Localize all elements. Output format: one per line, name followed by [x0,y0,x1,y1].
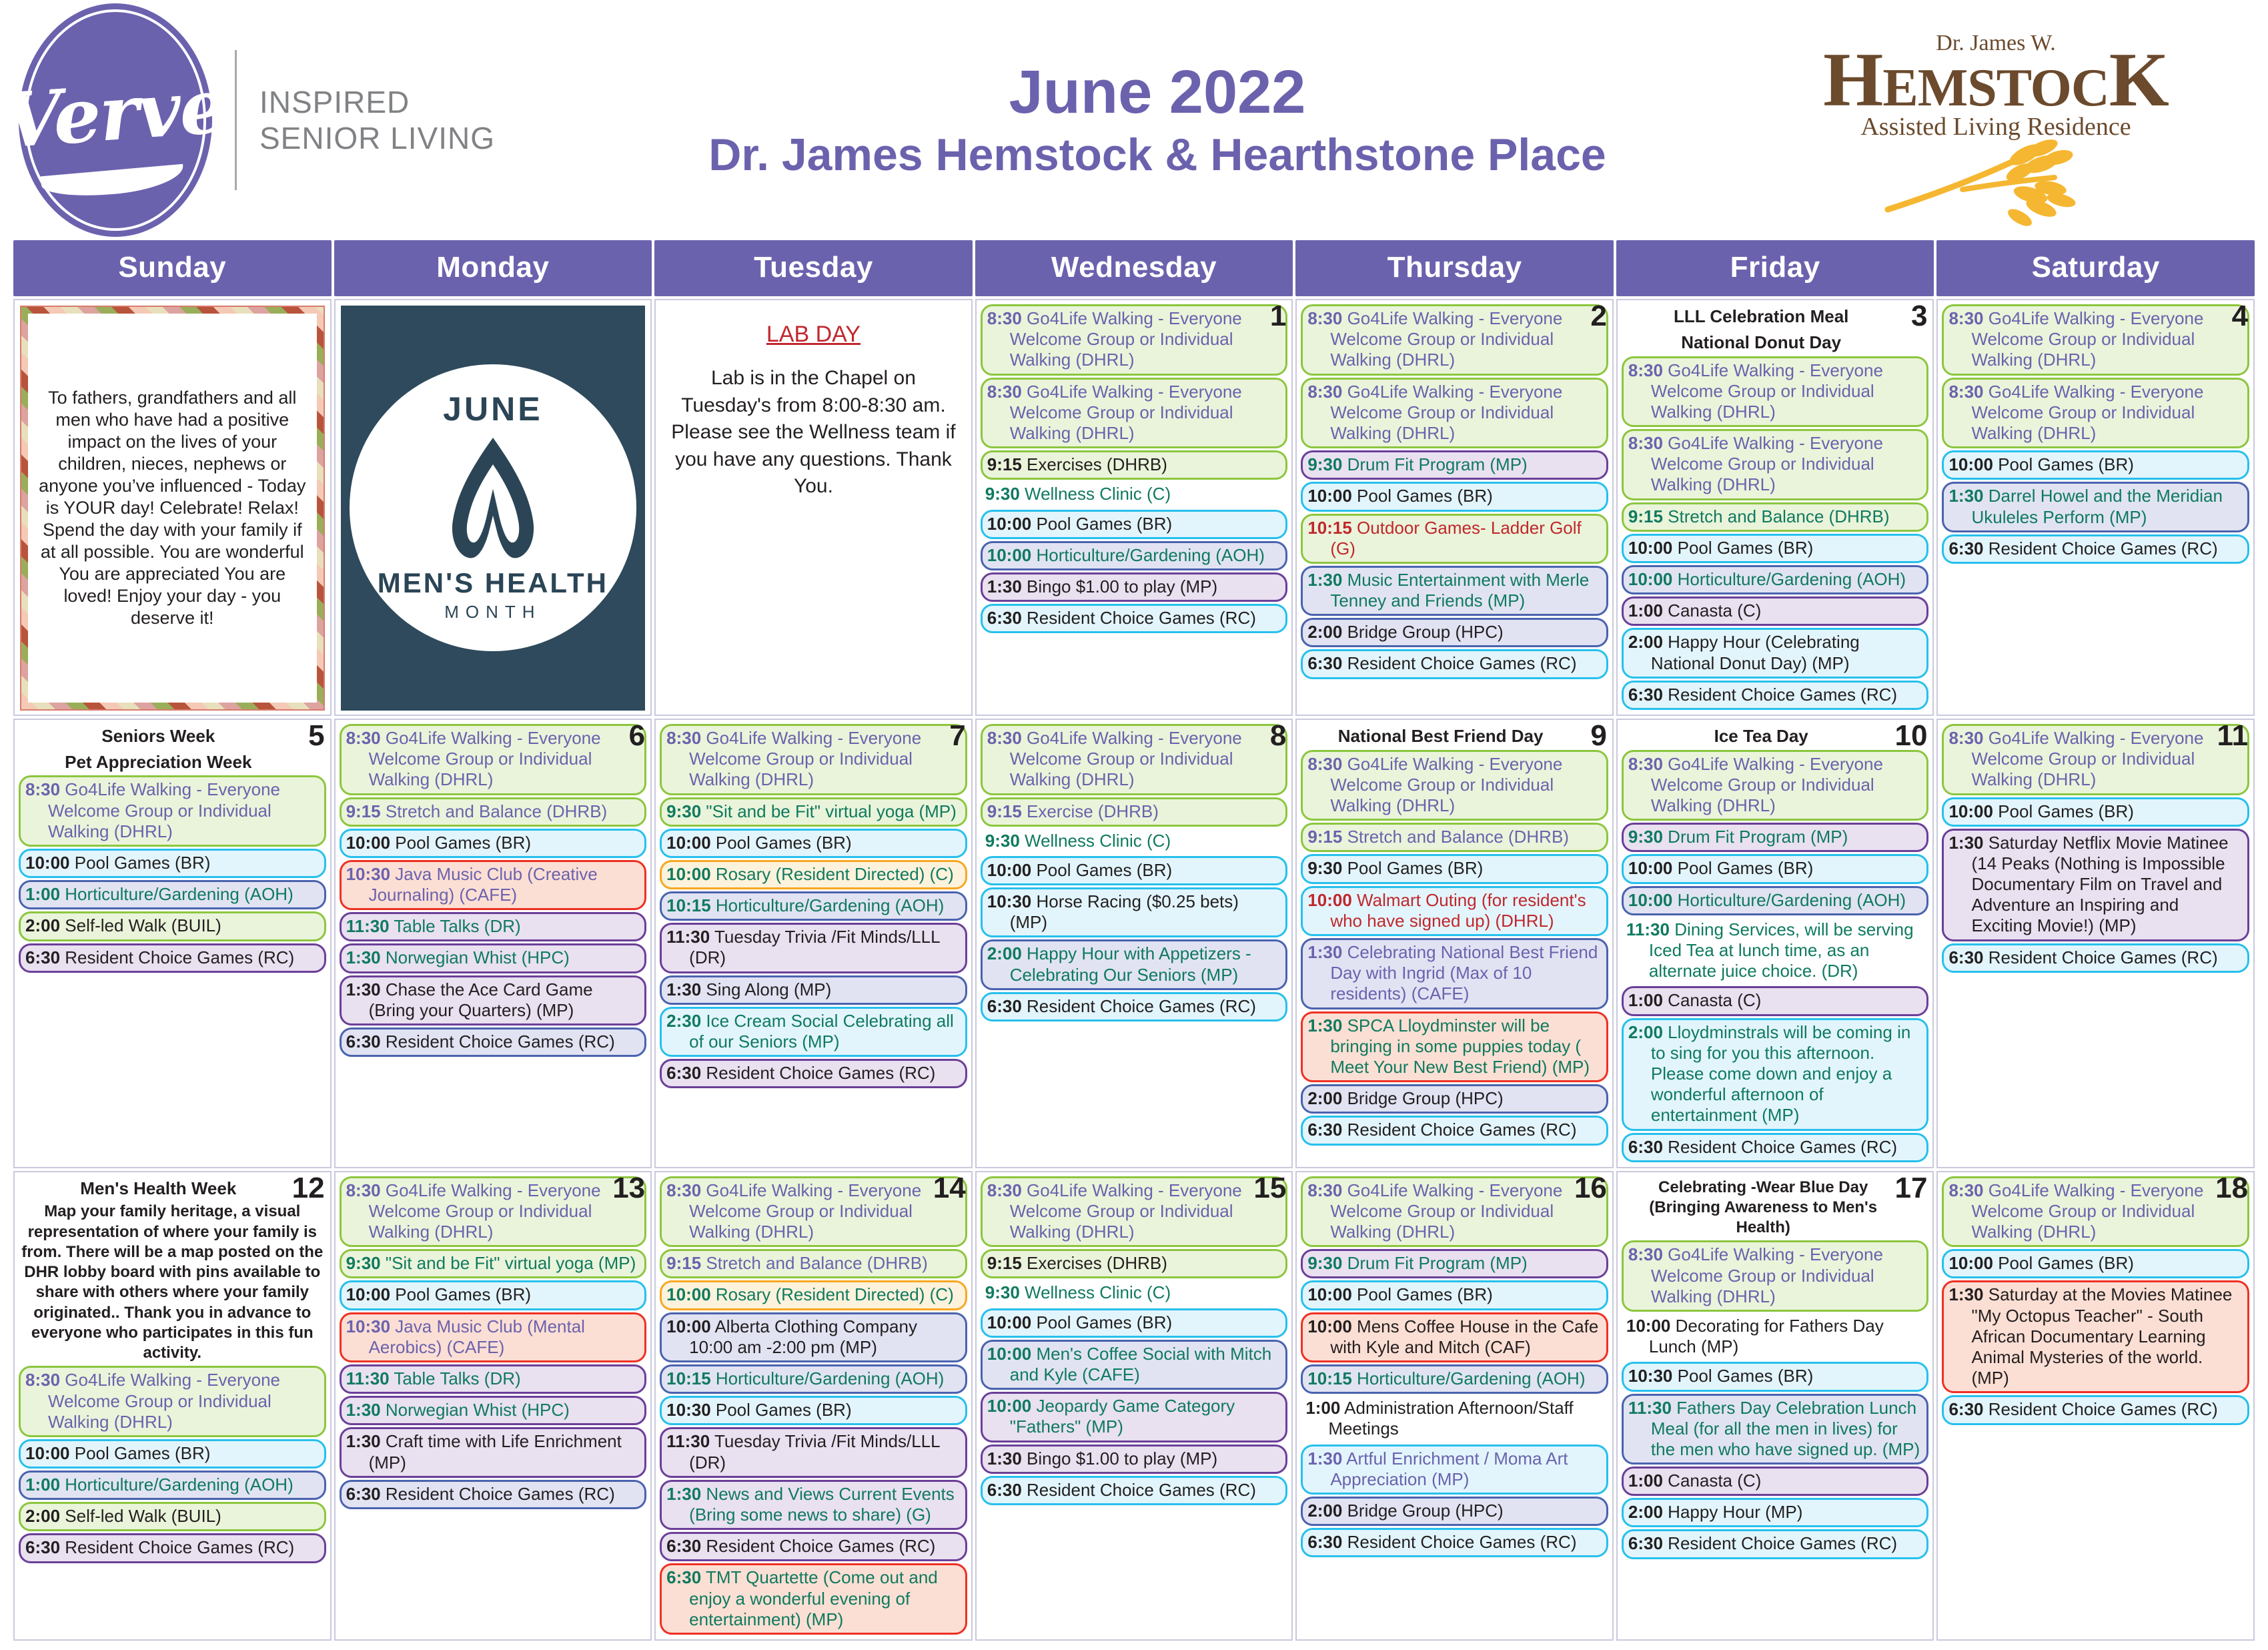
day-number: 14 [933,1174,966,1203]
event-label: Tuesday Trivia /Fit Minds/LLL (DR) [689,1431,939,1472]
day-cell-4[interactable]: 48:30 Go4Life Walking - Everyone Welcome… [1936,299,2255,716]
calendar-event[interactable]: 10:00 Horticulture/Gardening (AOH) [981,541,1288,570]
event-time: 8:30 [1307,754,1342,774]
wheat-icon [1882,131,2109,231]
calendar-event[interactable]: 10:15 Outdoor Games- Ladder Golf (G) [1301,514,1608,564]
event-label: Go4Life Walking - Everyone Welcome Group… [1010,308,1242,370]
calendar-event[interactable]: 8:30 Go4Life Walking - Everyone Welcome … [981,304,1288,376]
calendar-event[interactable]: 9:30 Wellness Clinic (C) [981,1280,1288,1306]
calendar-event[interactable]: 1:30 SPCA Lloydminster will be bringing … [1301,1011,1608,1083]
calendar-event[interactable]: 8:30 Go4Life Walking - Everyone Welcome … [1622,429,1929,500]
verve-wordmark: Verve [1,62,229,165]
day-cell-lab-day[interactable]: LAB DAYLab is in the Chapel on Tuesday's… [654,299,973,716]
event-time: 6:30 [987,996,1022,1016]
calendar-event[interactable]: 8:30 Go4Life Walking - Everyone Welcome … [981,724,1288,795]
calendar-event[interactable]: 6:30 Resident Choice Games (RC) [981,992,1288,1021]
event-label: Bingo $1.00 to play (MP) [1022,576,1217,596]
calendar-event[interactable]: 1:00 Canasta (C) [1622,986,1929,1015]
event-time: 10:00 [987,1396,1032,1416]
calendar-event[interactable]: 10:00 Pool Games (BR) [981,856,1288,885]
calendar-event[interactable]: 10:30 Pool Games (BR) [660,1396,967,1425]
event-label: Pool Games (BR) [1031,860,1172,880]
mens-health-month-poster: JUNEMEN'S HEALTHMONTH [341,306,646,711]
event-time: 10:00 [25,853,70,873]
day-cell-3[interactable]: 3LLL Celebration MealNational Donut Day8… [1616,299,1934,716]
logo-divider [235,50,237,190]
event-time: 1:30 [666,1484,701,1504]
calendar-event[interactable]: 6:30 Resident Choice Games (RC) [1301,649,1608,679]
calendar-event[interactable]: 6:30 Resident Choice Games (RC) [1942,943,2249,973]
calendar-event[interactable]: 11:30 Dining Services, will be serving I… [1622,917,1929,985]
event-time: 8:30 [25,779,60,799]
calendar-event[interactable]: 10:15 Horticulture/Gardening (AOH) [660,1364,967,1394]
event-time: 10:00 [346,833,391,853]
calendar-event[interactable]: 9:30 "Sit and be Fit" virtual yoga (MP) [660,797,967,827]
verve-oval-mark: Verve [19,3,212,237]
calendar-event[interactable]: 10:15 Horticulture/Gardening (AOH) [660,891,967,921]
event-label: Resident Choice Games (RC) [60,947,294,967]
calendar-event[interactable]: 10:00 Mens Coffee House in the Cafe with… [1301,1312,1608,1362]
calendar-event[interactable]: 10:00 Decorating for Fathers Day Lunch (… [1622,1314,1929,1360]
calendar-event[interactable]: 8:30 Go4Life Walking - Everyone Welcome … [1622,356,1929,428]
day-number: 11 [2217,721,2249,751]
calendar-event[interactable]: 10:00 Men's Coffee Social with Mitch and… [981,1340,1288,1390]
event-time: 10:00 [666,1316,711,1336]
calendar-event[interactable]: 2:00 Bridge Group (HPC) [1301,1084,1608,1114]
calendar-event[interactable]: 9:15 Stretch and Balance (DHRB) [340,797,647,827]
event-label: Pool Games (BR) [1993,454,2134,474]
calendar-event[interactable]: 11:30 Table Talks (DR) [340,1364,647,1394]
event-time: 1:00 [25,1475,60,1495]
calendar-event[interactable]: 11:30 Tuesday Trivia /Fit Minds/LLL (DR) [660,1427,967,1477]
event-label: Self-led Walk (BUIL) [60,915,221,935]
event-time: 9:15 [987,801,1022,821]
event-label: Go4Life Walking - Everyone Welcome Group… [689,1180,921,1242]
weekday-header-friday[interactable]: Friday [1616,240,1934,296]
event-label: Resident Choice Games (RC) [1984,947,2218,967]
calendar-event[interactable]: 9:30 "Sit and be Fit" virtual yoga (MP) [340,1249,647,1278]
day-banner: Celebrating -Wear Blue Day (Bringing Awa… [1622,1176,1929,1240]
calendar-event[interactable]: 9:30 Drum Fit Program (MP) [1301,450,1608,480]
calendar-event[interactable]: 8:30 Go4Life Walking - Everyone Welcome … [1301,750,1608,821]
lab-day-title: LAB DAY [666,322,961,348]
calendar-event[interactable]: 10:30 Horse Racing ($0.25 bets) (MP) [981,887,1288,937]
weekday-header-wednesday[interactable]: Wednesday [975,240,1293,296]
calendar-event[interactable]: 1:00 Administration Afternoon/Staff Meet… [1301,1396,1608,1442]
event-label: Go4Life Walking - Everyone Welcome Group… [1651,1244,1883,1306]
calendar-event[interactable]: 6:30 Resident Choice Games (RC) [340,1027,647,1057]
calendar-event[interactable]: 10:00 Pool Games (BR) [19,1439,326,1469]
calendar-event[interactable]: 1:30 Craft time with Life Enrichment (MP… [340,1427,647,1477]
calendar-event[interactable]: 8:30 Go4Life Walking - Everyone Welcome … [1622,1240,1929,1312]
day-banner: National Donut Day [1622,330,1929,355]
event-time: 1:30 [666,979,701,999]
event-time: 1:30 [1307,1015,1342,1036]
event-label: Music Entertainment with Merle Tenney an… [1330,570,1589,610]
calendar-event[interactable]: 8:30 Go4Life Walking - Everyone Welcome … [1301,1176,1608,1248]
event-time: 9:30 [985,1282,1020,1302]
weekday-header-row: SundayMondayTuesdayWednesdayThursdayFrid… [13,240,2255,296]
calendar-event[interactable]: 8:30 Go4Life Walking - Everyone Welcome … [981,378,1288,449]
calendar-event[interactable]: 9:15 Exercises (DHRB) [981,1249,1288,1278]
event-label: Resident Choice Games (RC) [1984,1399,2218,1419]
event-time: 10:00 [1626,1316,1671,1336]
event-label: Wellness Clinic (C) [1020,1282,1171,1302]
calendar-event[interactable]: 10:00 Pool Games (BR) [340,1280,647,1310]
calendar-event[interactable]: 1:00 Horticulture/Gardening (AOH) [19,880,326,909]
event-label: Horticulture/Gardening (AOH) [1031,545,1265,565]
calendar-event[interactable]: 1:30 Sing Along (MP) [660,975,967,1005]
calendar-event[interactable]: 1:30 Norwegian Whist (HPC) [340,943,647,973]
event-time: 10:00 [1628,890,1673,910]
calendar-event[interactable]: 9:30 Pool Games (BR) [1301,854,1608,883]
event-time: 2:00 [1307,1088,1342,1108]
event-label: Horticulture/Gardening (AOH) [1672,890,1906,910]
calendar-event[interactable]: 6:30 Resident Choice Games (RC) [1622,1529,1929,1559]
calendar-event[interactable]: 6:30 Resident Choice Games (RC) [1942,534,2249,564]
event-label: Pool Games (BR) [1993,801,2134,821]
event-time: 8:30 [1628,360,1663,380]
calendar-event[interactable]: 6:30 Resident Choice Games (RC) [660,1532,967,1561]
day-cell-2[interactable]: 28:30 Go4Life Walking - Everyone Welcome… [1295,299,1614,716]
event-label: Norwegian Whist (HPC) [381,947,570,967]
event-label: Resident Choice Games (RC) [1342,1120,1576,1140]
weekday-header-tuesday[interactable]: Tuesday [654,240,973,296]
event-label: News and Views Current Events (Bring som… [689,1484,955,1525]
event-label: Go4Life Walking - Everyone Welcome Group… [1330,382,1562,443]
day-number: 1 [1270,302,1286,331]
calendar-event[interactable]: 2:00 Bridge Group (HPC) [1301,1497,1608,1526]
calendar-event[interactable]: 11:30 Fathers Day Celebration Lunch Meal… [1622,1394,1929,1465]
day-cell-17[interactable]: 17Celebrating -Wear Blue Day (Bringing A… [1616,1171,1934,1641]
event-time: 1:30 [1307,1449,1342,1469]
day-cell-7[interactable]: 78:30 Go4Life Walking - Everyone Welcome… [654,719,973,1168]
poster-june-label: JUNE [443,390,542,428]
calendar-event[interactable]: 8:30 Go4Life Walking - Everyone Welcome … [660,1176,967,1248]
calendar-event[interactable]: 2:00 Lloydminstrals will be coming in to… [1622,1018,1929,1131]
calendar-event[interactable]: 6:30 Resident Choice Games (RC) [981,604,1288,633]
event-time: 10:00 [1307,890,1352,910]
calendar-event[interactable]: 1:00 Horticulture/Gardening (AOH) [19,1471,326,1500]
event-label: Resident Choice Games (RC) [1663,1137,1897,1157]
calendar-event[interactable]: 11:30 Table Talks (DR) [340,912,647,941]
event-label: Horticulture/Gardening (AOH) [711,1368,945,1388]
verve-logo: Verve INSPIRED SENIOR LIVING [19,3,572,237]
calendar-event[interactable]: 2:00 Self-led Walk (BUIL) [19,1502,326,1531]
calendar-event[interactable]: 1:30 Chase the Ace Card Game (Bring your… [340,975,647,1025]
calendar-event[interactable]: 1:00 Canasta (C) [1622,596,1929,626]
event-label: Go4Life Walking - Everyone Welcome Group… [1010,728,1242,789]
calendar-event[interactable]: 10:00 Pool Games (BR) [1301,482,1608,511]
calendar-event[interactable]: 6:30 Resident Choice Games (RC) [340,1480,647,1509]
event-label: Resident Choice Games (RC) [1022,996,1256,1016]
event-label: Saturday Netflix Movie Matinee (14 Peaks… [1971,833,2228,936]
event-time: 10:00 [1628,858,1673,878]
calendar-event[interactable]: 9:30 Wellness Clinic (C) [981,482,1288,507]
calendar-event[interactable]: 10:00 Pool Games (BR) [1942,797,2249,827]
event-label: Bridge Group (HPC) [1342,622,1503,642]
poster-circle: JUNEMEN'S HEALTHMONTH [350,364,636,651]
calendar-event[interactable]: 6:30 Resident Choice Games (RC) [19,943,326,973]
event-label: Pool Games (BR) [711,833,852,853]
calendar-event[interactable]: 8:30 Go4Life Walking - Everyone Welcome … [340,724,647,795]
day-cell-11[interactable]: 118:30 Go4Life Walking - Everyone Welcom… [1936,719,2255,1168]
calendar-event[interactable]: 9:30 Drum Fit Program (MP) [1301,1249,1608,1278]
event-time: 10:30 [346,864,391,884]
calendar-event[interactable]: 2:00 Bridge Group (HPC) [1301,618,1608,647]
calendar-event[interactable]: 10:00 Pool Games (BR) [981,1308,1288,1338]
event-label: Tuesday Trivia /Fit Minds/LLL (DR) [689,927,939,967]
verve-tagline-line1: INSPIRED [259,84,495,120]
calendar-event[interactable]: 2:00 Happy Hour (MP) [1622,1498,1929,1527]
event-label: Darrel Howel and the Meridian Ukuleles P… [1971,486,2222,526]
event-time: 1:30 [1948,1284,1983,1304]
event-label: Resident Choice Games (RC) [1984,538,2218,558]
calendar-event[interactable]: 10:00 Pool Games (BR) [1942,1249,2249,1278]
calendar-event[interactable]: 10:00 Pool Games (BR) [340,829,647,858]
event-label: Pool Games (BR) [390,833,531,853]
event-time: 1:00 [1305,1398,1340,1418]
event-label: Bridge Group (HPC) [1342,1501,1503,1521]
event-time: 8:30 [987,728,1022,748]
event-label: Resident Choice Games (RC) [1663,1533,1897,1553]
day-cell-fathers-poem[interactable]: To fathers, grandfathers and all men who… [13,299,332,716]
day-cell-mens-health-poster[interactable]: JUNEMEN'S HEALTHMONTH [334,299,652,716]
calendar-event[interactable]: 8:30 Go4Life Walking - Everyone Welcome … [981,1176,1288,1248]
day-cell-14[interactable]: 148:30 Go4Life Walking - Everyone Welcom… [654,1171,973,1641]
event-label: Decorating for Fathers Day Lunch (MP) [1649,1316,1884,1356]
event-label: Pool Games (BR) [1352,1284,1493,1304]
event-time: 8:30 [666,728,701,748]
calendar-event[interactable]: 10:30 Java Music Club (Mental Aerobics) … [340,1312,647,1362]
day-cell-9[interactable]: 9National Best Friend Day8:30 Go4Life Wa… [1295,719,1614,1168]
event-label: Pool Games (BR) [70,853,211,873]
calendar-event[interactable]: 10:00 Rosary (Resident Directed) (C) [660,1280,967,1310]
calendar-event[interactable]: 6:30 Resident Choice Games (RC) [1942,1395,2249,1424]
event-label: Dining Services, will be serving Iced Te… [1649,919,1914,981]
event-time: 9:30 [985,484,1020,504]
event-label: Go4Life Walking - Everyone Welcome Group… [1010,382,1242,443]
event-label: Wellness Clinic (C) [1020,831,1171,851]
calendar-event[interactable]: 8:30 Go4Life Walking - Everyone Welcome … [660,724,967,795]
event-time: 10:00 [1307,1284,1352,1304]
event-time: 8:30 [1307,382,1342,402]
event-time: 8:30 [346,1180,381,1200]
event-label: Resident Choice Games (RC) [60,1537,294,1557]
day-number: 2 [1590,302,1606,331]
event-time: 2:00 [1628,1502,1663,1522]
event-label: SPCA Lloydminster will be bringing in so… [1330,1015,1590,1077]
event-label: Go4Life Walking - Everyone Welcome Group… [1971,308,2203,370]
calendar-event[interactable]: 8:30 Go4Life Walking - Everyone Welcome … [1942,1176,2249,1248]
calendar-event[interactable]: 10:30 Pool Games (BR) [1622,1362,1929,1391]
calendar-event[interactable]: 9:15 Exercise (DHRB) [981,797,1288,827]
calendar-event[interactable]: 9:15 Stretch and Balance (DHRB) [660,1249,967,1278]
event-time: 10:30 [1628,1366,1673,1386]
calendar-event[interactable]: 10:15 Horticulture/Gardening (AOH) [1301,1364,1608,1394]
day-cell-16[interactable]: 168:30 Go4Life Walking - Everyone Welcom… [1295,1171,1614,1641]
event-time: 8:30 [1307,1180,1342,1200]
day-cell-8[interactable]: 88:30 Go4Life Walking - Everyone Welcome… [975,719,1293,1168]
calendar-event[interactable]: 6:30 Resident Choice Games (RC) [1301,1116,1608,1145]
weekday-header-saturday[interactable]: Saturday [1936,240,2255,296]
calendar-event[interactable]: 2:00 Self-led Walk (BUIL) [19,911,326,941]
calendar-event[interactable]: 6:30 Resident Choice Games (RC) [660,1059,967,1088]
event-label: Exercises (DHRB) [1022,1253,1167,1273]
calendar-event[interactable]: 2:30 Ice Cream Social Celebrating all of… [660,1007,967,1057]
calendar-event[interactable]: 2:00 Happy Hour (Celebrating National Do… [1622,628,1929,678]
event-label: Pool Games (BR) [1031,1312,1172,1332]
event-time: 9:30 [666,801,701,821]
calendar-event[interactable]: 10:00 Jeopardy Game Category "Fathers" (… [981,1392,1288,1442]
calendar-event[interactable]: 1:30 Saturday Netflix Movie Matinee (14 … [1942,829,2249,941]
calendar-event[interactable]: 1:30 Bingo $1.00 to play (MP) [981,572,1288,602]
lab-day-notice: LAB DAYLab is in the Chapel on Tuesday's… [660,304,967,504]
event-label: Resident Choice Games (RC) [1342,1532,1576,1552]
event-time: 10:00 [25,1443,70,1463]
day-cell-15[interactable]: 158:30 Go4Life Walking - Everyone Welcom… [975,1171,1293,1641]
event-time: 8:30 [666,1180,701,1200]
calendar-event[interactable]: 8:30 Go4Life Walking - Everyone Welcome … [19,775,326,847]
event-time: 10:00 [666,864,711,884]
day-cell-18[interactable]: 188:30 Go4Life Walking - Everyone Welcom… [1936,1171,2255,1641]
event-time: 10:00 [666,1284,711,1304]
calendar-event[interactable]: 10:00 Pool Games (BR) [660,829,967,858]
event-time: 10:00 [987,545,1032,565]
calendar-event[interactable]: 6:30 Resident Choice Games (RC) [1622,681,1929,710]
event-label: Pool Games (BR) [1672,858,1813,878]
event-time: 2:00 [987,943,1022,963]
calendar-event[interactable]: 10:00 Rosary (Resident Directed) (C) [660,860,967,889]
event-label: Go4Life Walking - Everyone Welcome Group… [1971,728,2203,789]
calendar-event[interactable]: 1:00 Canasta (C) [1622,1467,1929,1496]
event-time: 6:30 [1628,1137,1663,1157]
event-time: 10:30 [346,1316,391,1336]
calendar-event[interactable]: 8:30 Go4Life Walking - Everyone Welcome … [1942,304,2249,376]
calendar-event[interactable]: 9:15 Stretch and Balance (DHRB) [1301,823,1608,852]
calendar-event[interactable]: 10:00 Pool Games (BR) [1942,450,2249,480]
day-cell-13[interactable]: 138:30 Go4Life Walking - Everyone Welcom… [334,1171,652,1641]
calendar-event[interactable]: 10:00 Pool Games (BR) [981,510,1288,539]
calendar-event[interactable]: 10:00 Alberta Clothing Company 10:00 am … [660,1312,967,1362]
fathers-day-poem-text: To fathers, grandfathers and all men who… [28,314,317,703]
event-label: Canasta (C) [1663,1471,1761,1491]
calendar-event[interactable]: 1:30 Music Entertainment with Merle Tenn… [1301,566,1608,616]
calendar-event[interactable]: 1:30 Celebrating National Best Friend Da… [1301,938,1608,1009]
calendar-event[interactable]: 8:30 Go4Life Walking - Everyone Welcome … [19,1366,326,1437]
calendar-event[interactable]: 8:30 Go4Life Walking - Everyone Welcome … [340,1176,647,1248]
poster-month-label: MONTH [444,602,541,623]
calendar-event[interactable]: 9:15 Stretch and Balance (DHRB) [1622,502,1929,532]
event-time: 6:30 [987,1480,1022,1500]
weekday-header-thursday[interactable]: Thursday [1295,240,1614,296]
day-number: 15 [1253,1174,1286,1203]
calendar-event[interactable]: 8:30 Go4Life Walking - Everyone Welcome … [1301,378,1608,449]
day-number: 13 [612,1174,645,1203]
lab-day-body: Lab is in the Chapel on Tuesday's from 8… [666,365,961,500]
calendar-event[interactable]: 8:30 Go4Life Walking - Everyone Welcome … [1942,378,2249,449]
verve-tagline-line2: SENIOR LIVING [259,120,495,156]
verve-swoosh-icon [41,164,185,201]
calendar-event[interactable]: 1:30 Bingo $1.00 to play (MP) [981,1445,1288,1474]
calendar-event[interactable]: 10:00 Walmart Outing (for resident's who… [1301,886,1608,936]
event-label: Resident Choice Games (RC) [1022,1480,1256,1500]
calendar-event[interactable]: 1:30 Artful Enrichment / Moma Art Apprec… [1301,1445,1608,1495]
event-label: Resident Choice Games (RC) [701,1536,935,1556]
calendar-event[interactable]: 8:30 Go4Life Walking - Everyone Welcome … [1622,750,1929,821]
event-label: Administration Afternoon/Staff Meetings [1328,1398,1573,1438]
calendar-event[interactable]: 10:00 Pool Games (BR) [1622,854,1929,883]
day-cell-12[interactable]: 12Men's Health WeekMap your family herit… [13,1171,332,1641]
day-cell-5[interactable]: 5Seniors WeekPet Appreciation Week8:30 G… [13,719,332,1168]
weekday-header-sunday[interactable]: Sunday [13,240,332,296]
calendar-event[interactable]: 6:30 TMT Quartette (Come out and enjoy a… [660,1563,967,1635]
calendar-event[interactable]: 8:30 Go4Life Walking - Everyone Welcome … [1942,724,2249,795]
calendar-event[interactable]: 6:30 Resident Choice Games (RC) [981,1476,1288,1505]
calendar-event[interactable]: 9:15 Exercises (DHRB) [981,450,1288,480]
calendar-event[interactable]: 1:30 Saturday at the Movies Matinee "My … [1942,1280,2249,1393]
calendar-event[interactable]: 2:00 Happy Hour with Appetizers - Celebr… [981,939,1288,989]
event-time: 8:30 [1628,754,1663,774]
weekday-header-monday[interactable]: Monday [334,240,652,296]
calendar-event[interactable]: 10:00 Pool Games (BR) [1622,534,1929,563]
calendar-event[interactable]: 11:30 Tuesday Trivia /Fit Minds/LLL (DR) [660,923,967,973]
calendar-event[interactable]: 6:30 Resident Choice Games (RC) [1622,1133,1929,1162]
event-time: 8:30 [25,1370,60,1390]
event-label: Craft time with Life Enrichment (MP) [369,1431,622,1472]
event-label: Exercise (DHRB) [1022,801,1159,821]
calendar-event[interactable]: 6:30 Resident Choice Games (RC) [19,1533,326,1563]
event-time: 11:30 [1628,1398,1672,1418]
calendar-event[interactable]: 10:00 Pool Games (BR) [19,849,326,878]
event-time: 9:30 [1307,1253,1342,1273]
calendar-event[interactable]: 1:30 News and Views Current Events (Brin… [660,1480,967,1530]
calendar-event[interactable]: 1:30 Norwegian Whist (HPC) [340,1396,647,1425]
day-banner: Men's Health Week [19,1176,326,1201]
calendar-event[interactable]: 9:30 Drum Fit Program (MP) [1622,823,1929,852]
event-time: 1:30 [346,947,381,967]
event-time: 6:30 [1628,685,1663,705]
event-label: Go4Life Walking - Everyone Welcome Group… [48,779,280,841]
calendar-event[interactable]: 10:30 Java Music Club (Creative Journali… [340,860,647,910]
calendar-event[interactable]: 1:30 Darrel Howel and the Meridian Ukule… [1942,482,2249,532]
day-cell-1[interactable]: 18:30 Go4Life Walking - Everyone Welcome… [975,299,1293,716]
event-time: 10:00 [1948,1253,1993,1273]
event-time: 1:30 [987,1449,1022,1469]
event-time: 6:30 [1307,1532,1342,1552]
calendar-event[interactable]: 10:00 Horticulture/Gardening (AOH) [1622,886,1929,915]
calendar-event[interactable]: 6:30 Resident Choice Games (RC) [1301,1528,1608,1557]
day-cell-6[interactable]: 68:30 Go4Life Walking - Everyone Welcome… [334,719,652,1168]
day-banner: Ice Tea Day [1622,724,1929,749]
event-time: 9:15 [1307,827,1342,847]
day-cell-10[interactable]: 10Ice Tea Day8:30 Go4Life Walking - Ever… [1616,719,1934,1168]
calendar-event[interactable]: 10:00 Horticulture/Gardening (AOH) [1622,565,1929,594]
calendar-event[interactable]: 8:30 Go4Life Walking - Everyone Welcome … [1301,304,1608,376]
event-label: Go4Life Walking - Everyone Welcome Group… [369,1180,601,1242]
fathers-day-poem-frame: To fathers, grandfathers and all men who… [20,306,325,711]
hemstock-wordmark: HEMSTOCK [1742,41,2249,119]
event-label: Men's Coffee Social with Mitch and Kyle … [1010,1344,1271,1384]
calendar-event[interactable]: 9:30 Wellness Clinic (C) [981,829,1288,854]
hemstock-h: H [1823,37,1882,123]
event-time: 2:00 [1628,1022,1663,1042]
event-label: Pool Games (BR) [1031,514,1172,534]
week-row-2: 5Seniors WeekPet Appreciation Week8:30 G… [13,719,2255,1168]
event-label: Resident Choice Games (RC) [381,1032,615,1052]
calendar-event[interactable]: 10:00 Pool Games (BR) [1301,1280,1608,1310]
day-banner: Pet Appreciation Week [19,750,326,775]
